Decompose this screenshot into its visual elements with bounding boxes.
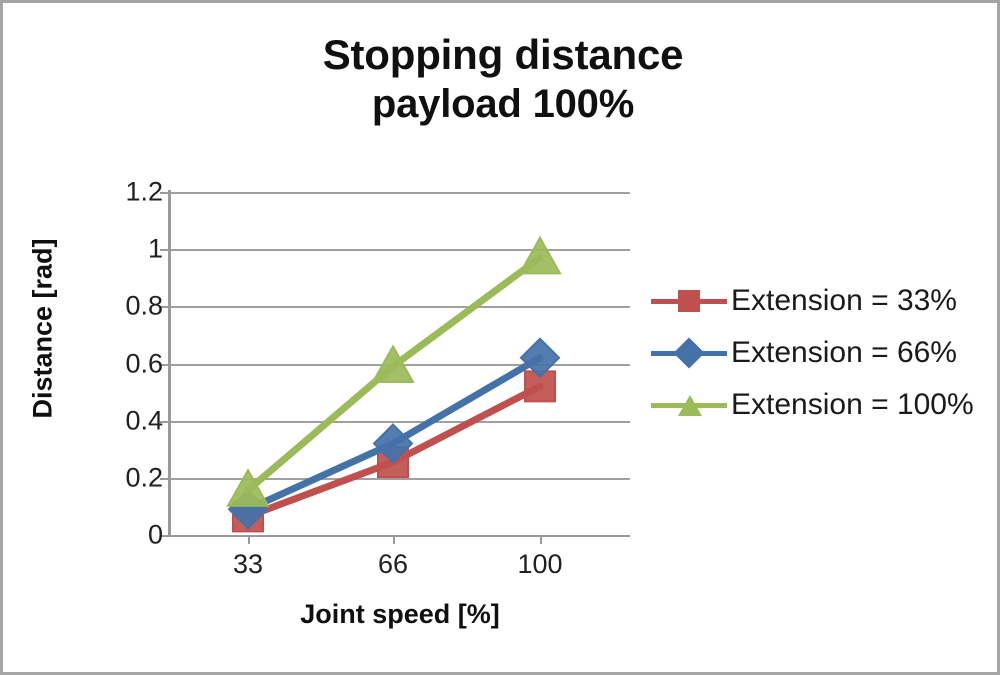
x-tick-label-66: 66 [333,549,453,580]
y-tick-label-1: 1 [103,234,163,265]
legend-item-extension-100[interactable]: Extension = 100% [651,379,991,431]
gridline-1.2 [170,192,630,194]
legend-item-extension-33[interactable]: Extension = 33% [651,275,991,327]
chart-container: Stopping distance payload 100% 1.2 1 0.8… [0,0,1000,675]
gridline-0.6 [170,364,630,366]
y-tick-label-0.6: 0.6 [103,348,163,379]
chart-title-line-1: Stopping distance [323,31,684,78]
y-axis-tick-labels: 1.2 1 0.8 0.6 0.4 0.2 0 [88,3,163,675]
gridline-0.2 [170,478,630,480]
legend: Extension = 33% Extension = 66% Extensio… [651,275,991,431]
y-tick-label-0.8: 0.8 [103,291,163,322]
gridline-0.4 [170,421,630,423]
y-axis-title: Distance [rad] [28,229,59,429]
legend-label-extension-100: Extension = 100% [727,388,974,422]
x-tick-label-33: 33 [188,549,308,580]
gridline-0 [170,535,630,537]
legend-item-extension-66[interactable]: Extension = 66% [651,327,991,379]
y-tick-label-0: 0 [103,520,163,551]
gridline-0.8 [170,306,630,308]
x-tick-33 [248,535,250,544]
plot-area [170,192,630,535]
diamond-marker-icon [651,338,727,368]
y-tick-label-0.4: 0.4 [103,405,163,436]
x-axis-title: Joint speed [%] [170,599,630,630]
y-tick-label-1.2: 1.2 [103,177,163,208]
legend-label-extension-66: Extension = 66% [727,336,957,370]
legend-label-extension-33: Extension = 33% [727,284,957,318]
x-tick-label-100: 100 [480,549,600,580]
triangle-marker-icon [651,390,727,420]
x-tick-100 [540,535,542,544]
y-tick-label-0.2: 0.2 [103,462,163,493]
square-marker-icon [651,286,727,316]
x-tick-66 [393,535,395,544]
gridline-1.0 [170,249,630,251]
